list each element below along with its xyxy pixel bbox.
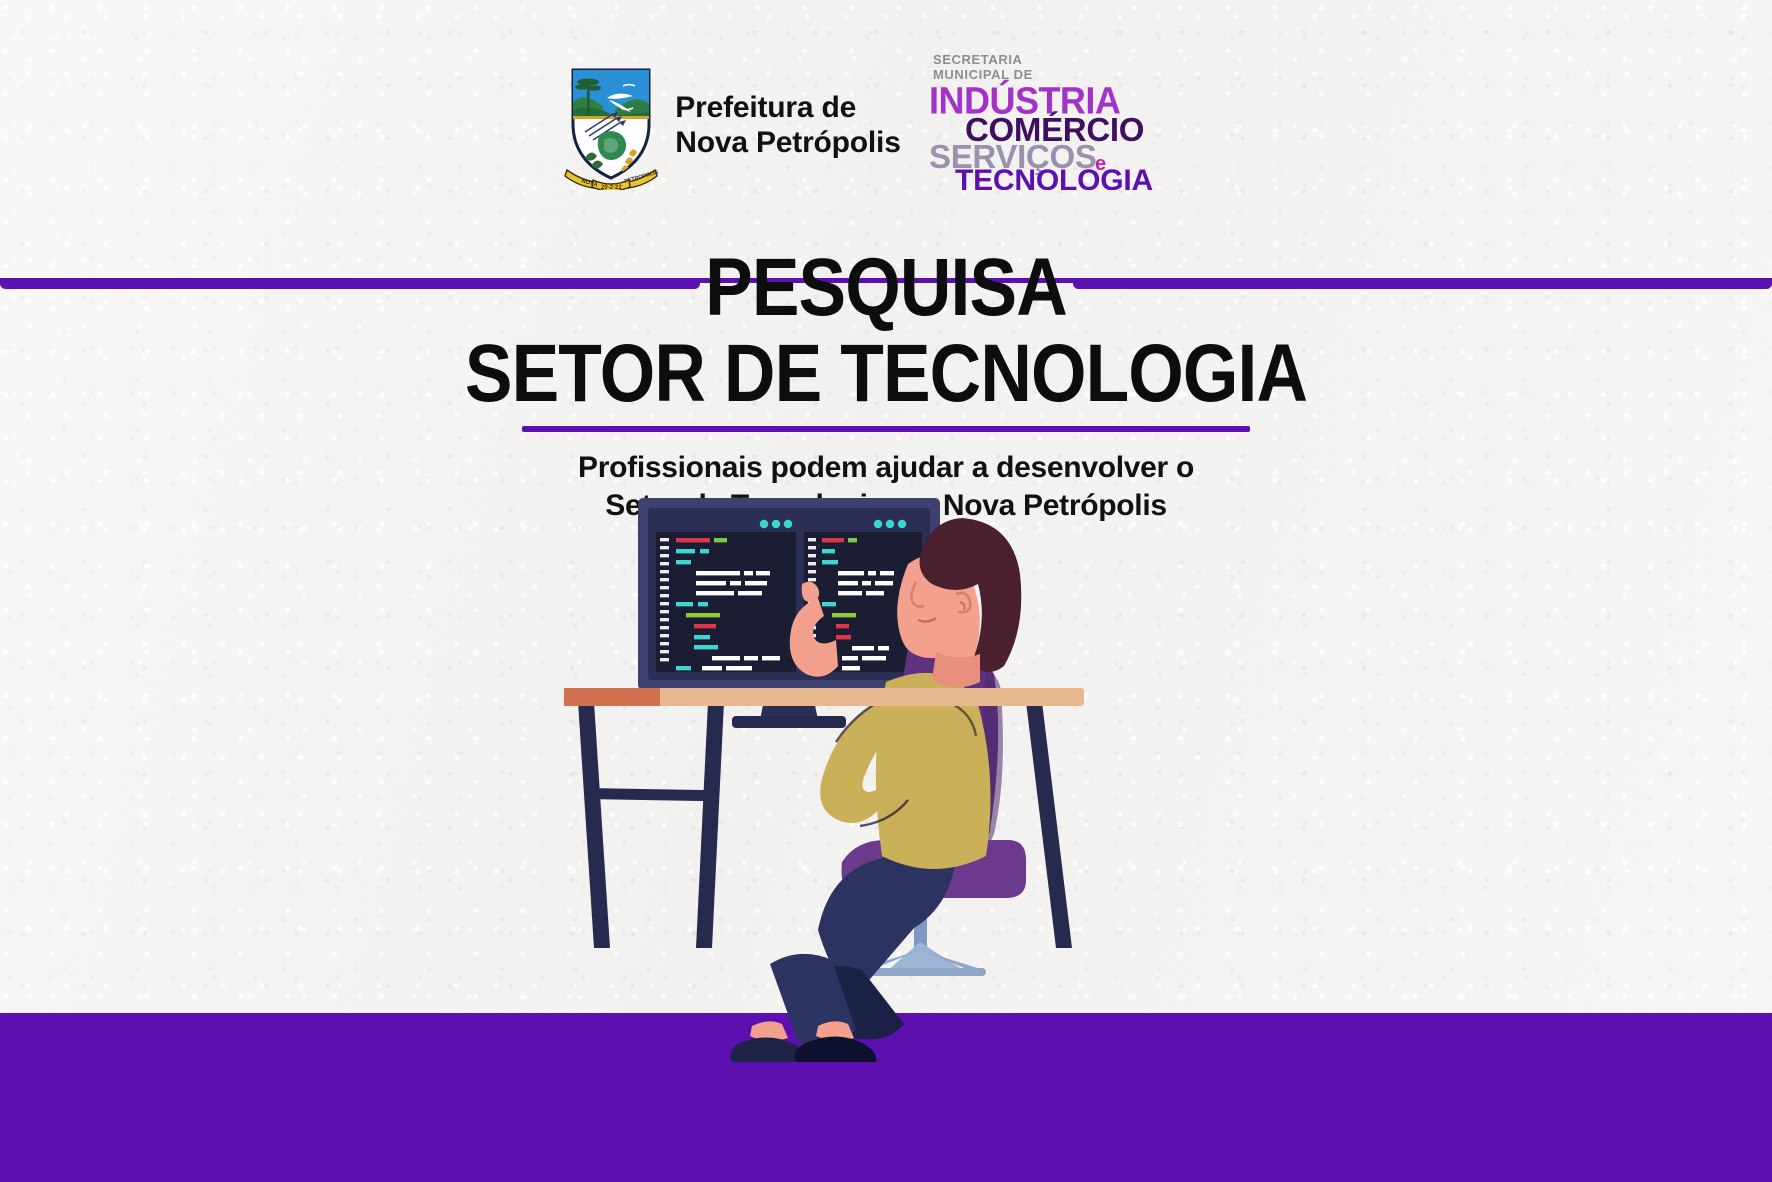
page-title-line2: SETOR DE TECNOLOGIA [115, 334, 1657, 414]
developer-at-desk-illustration [556, 470, 1216, 1070]
crest-motto-date: 20-2-22 [601, 185, 622, 190]
header-logos: NOVA 20-2-22 PETROPOLIS Prefeitura de No… [0, 46, 1772, 190]
secretaria-logo: SECRETARIA MUNICIPAL DE INDÚSTRIA COMÉRC… [927, 48, 1209, 190]
secretaria-eyebrow-line1: SECRETARIA [933, 52, 1023, 67]
secretaria-word-tecnologia: TECNOLOGIA [955, 164, 1153, 190]
desk-top [564, 688, 1084, 706]
page-title-line1: PESQUISA [115, 248, 1657, 328]
prefeitura-logo: NOVA 20-2-22 PETROPOLIS Prefeitura de No… [563, 62, 900, 190]
coat-of-arms-icon: NOVA 20-2-22 PETROPOLIS [563, 62, 659, 190]
code-pane-left [656, 516, 796, 672]
title-underline [522, 426, 1250, 432]
poster-canvas: NOVA 20-2-22 PETROPOLIS Prefeitura de No… [0, 0, 1772, 1182]
prefeitura-name: Prefeitura de Nova Petrópolis [675, 91, 900, 161]
monitor-stand-base [732, 716, 846, 728]
